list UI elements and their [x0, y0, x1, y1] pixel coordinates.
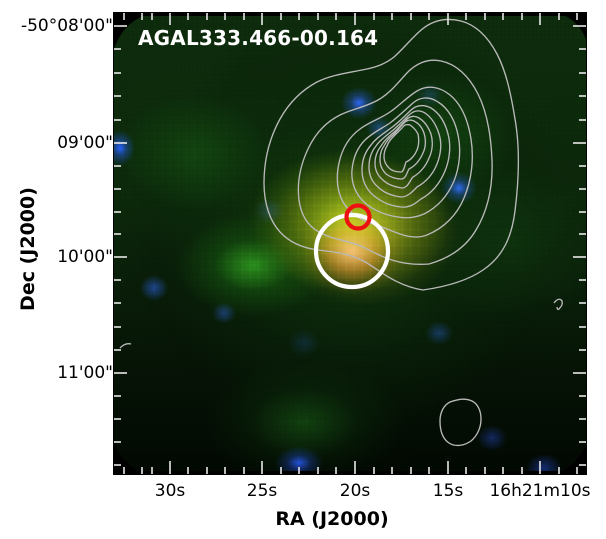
y-axis-title: Dec (J2000) — [17, 129, 39, 369]
axis-tick-marks — [114, 13, 586, 474]
sky-image-panel: AGAL333.466-00.164 — [114, 13, 586, 474]
source-title: AGAL333.466-00.164 — [138, 26, 378, 50]
xtick-label-4: 16h21m10s — [480, 481, 600, 501]
figure-canvas: -50°08'00" 09'00" 10'00" 11'00" 30s 25s … — [0, 0, 606, 539]
x-axis-title: RA (J2000) — [0, 508, 606, 530]
ytick-label-0: -50°08'00" — [0, 16, 113, 36]
